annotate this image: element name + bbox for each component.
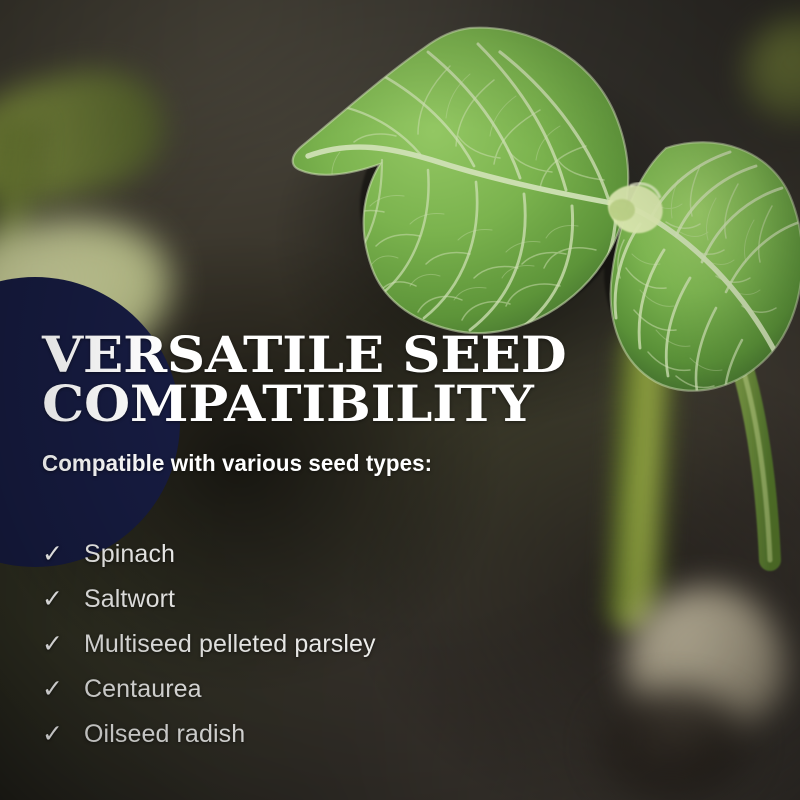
check-icon: ✓ [42,587,84,612]
check-icon: ✓ [42,722,84,747]
list-item-label: Oilseed radish [84,720,245,749]
check-icon: ✓ [42,632,84,657]
page-title: VERSATILE SEED COMPATIBILITY [42,330,636,428]
list-item-label: Centaurea [84,675,202,704]
list-item-label: Multiseed pelleted parsley [84,630,376,659]
leaf-left [293,28,628,333]
list-item-label: Spinach [84,540,175,569]
headline-line-2: COMPATIBILITY [42,379,636,428]
list-item: ✓ Saltwort [42,577,602,622]
list-item: ✓ Multiseed pelleted parsley [42,622,602,667]
check-icon: ✓ [42,677,84,702]
copy-block: VERSATILE SEED COMPATIBILITY Compatible … [42,330,602,757]
list-item: ✓ Oilseed radish [42,712,602,757]
list-item: ✓ Centaurea [42,667,602,712]
promo-graphic: VERSATILE SEED COMPATIBILITY Compatible … [0,0,800,800]
list-item: ✓ Spinach [42,532,602,577]
seed-type-list: ✓ Spinach ✓ Saltwort ✓ Multiseed pellete… [42,532,602,757]
list-item-label: Saltwort [84,585,175,614]
subheadline: Compatible with various seed types: [42,450,585,477]
check-icon: ✓ [42,542,84,567]
